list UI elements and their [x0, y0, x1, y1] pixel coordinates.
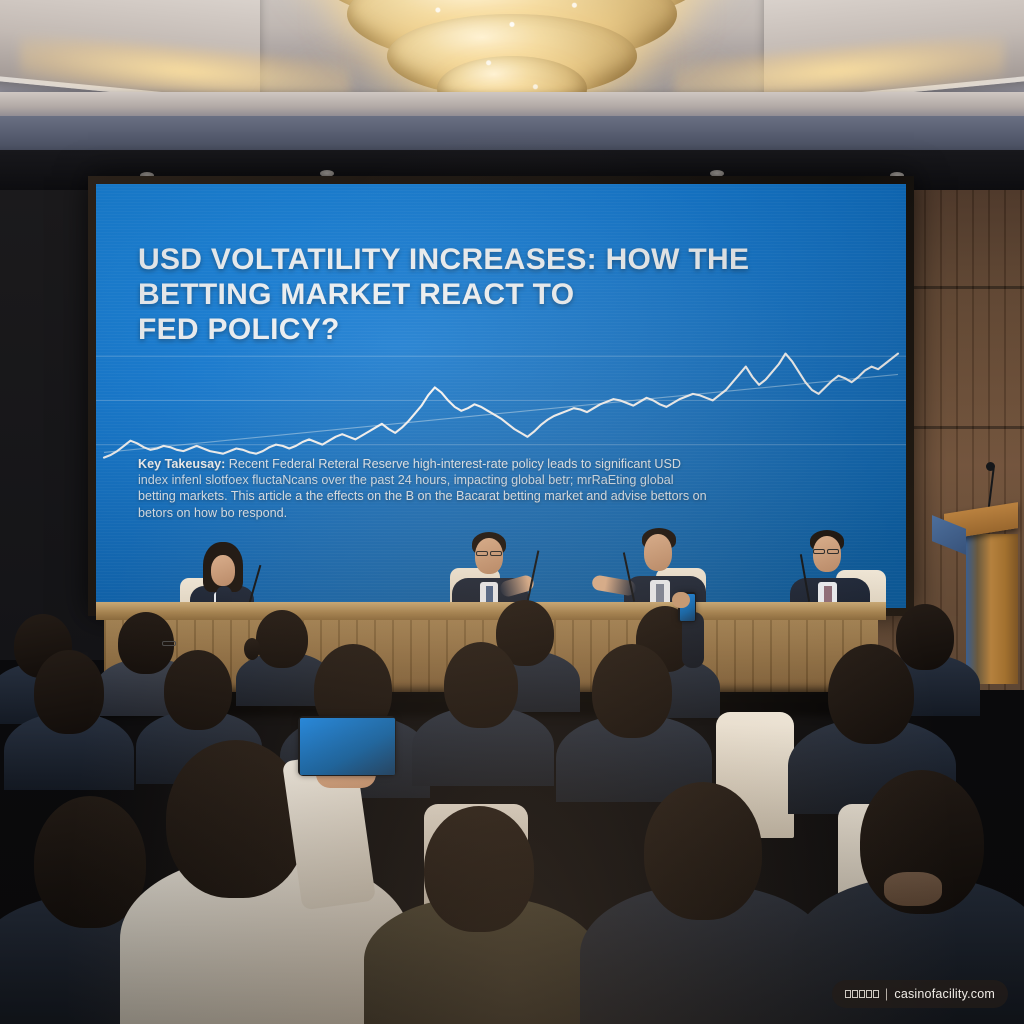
watermark: | casinofacility.com [832, 980, 1008, 1008]
watermark-domain: casinofacility.com [894, 987, 995, 1001]
slide-title-line-2: BETTING MARKET REACT TO [138, 277, 838, 312]
microphone-icon [986, 462, 995, 471]
audience-member [412, 626, 554, 786]
audience-member [364, 788, 600, 1024]
eyeglasses-icon [813, 549, 825, 554]
audience-member [4, 634, 134, 790]
panelist-head [475, 538, 503, 574]
slide-body-text: Key Takeusay: Recent Federal Reteral Res… [138, 456, 838, 521]
panelist-head [813, 536, 841, 572]
hand [672, 592, 690, 608]
eyeglasses-icon [490, 551, 502, 556]
audience [0, 604, 1024, 1024]
chart-svg [96, 332, 906, 472]
chart-series-line [104, 354, 898, 458]
watermark-cjk-glyphs [845, 990, 879, 998]
slide-body-line-2: index infenl slotfoex fluctaNcans over t… [138, 472, 838, 488]
eyeglasses-icon [476, 551, 488, 556]
watermark-divider: | [885, 987, 888, 1001]
slide-body-line-1: Key Takeusay: Recent Federal Reteral Res… [138, 456, 838, 472]
slide-title-line-1: USD VOLTATILITY INCREASES: HOW THE [138, 242, 838, 277]
chart-gridlines [96, 356, 906, 444]
panelist-head [644, 534, 672, 571]
smartphone-recording[interactable] [298, 716, 396, 776]
key-takeaway-label: Key Takeusay: [138, 457, 225, 471]
slide-body-line-1-text: Recent Federal Reteral Reserve high-inte… [229, 457, 681, 471]
screenshot-root: USD VOLTATILITY INCREASES: HOW THE BETTI… [0, 0, 1024, 1024]
ceiling-moulding [0, 92, 1024, 118]
eyeglasses-icon [827, 549, 839, 554]
chart-trendline [104, 374, 898, 452]
panelist-face [211, 555, 235, 586]
slide-body-line-3: betting markets. This article a the effe… [138, 488, 838, 504]
usd-volatility-chart [96, 332, 906, 472]
